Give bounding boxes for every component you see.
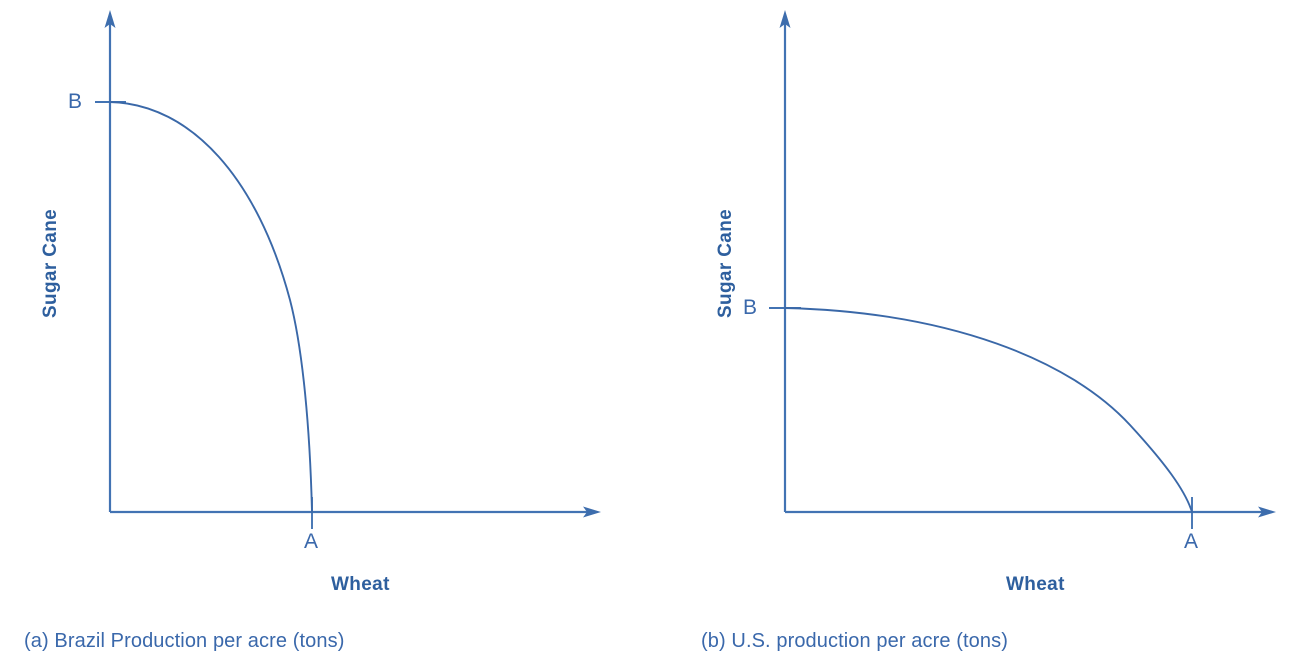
ppf-figure: B A Sugar Cane Wheat (a) Brazil Producti… [0, 0, 1300, 669]
brazil-point-a-label: A [304, 531, 318, 552]
brazil-y-axis-title: Sugar Cane [41, 209, 60, 318]
brazil-point-b-label: B [68, 91, 82, 112]
us-y-axis-title: Sugar Cane [716, 209, 735, 318]
brazil-caption: (a) Brazil Production per acre (tons) [24, 631, 345, 651]
brazil-ppf-curve [110, 102, 312, 512]
us-caption: (b) U.S. production per acre (tons) [701, 631, 1008, 651]
brazil-plot-area [0, 0, 650, 600]
us-point-b-label: B [743, 297, 757, 318]
panel-brazil: B A Sugar Cane Wheat (a) Brazil Producti… [0, 0, 650, 669]
us-point-a-label: A [1184, 531, 1198, 552]
panel-us: B A Sugar Cane Wheat (b) U.S. production… [650, 0, 1300, 669]
brazil-x-axis-title: Wheat [331, 575, 390, 594]
us-ppf-curve [785, 308, 1192, 512]
us-x-axis-title: Wheat [1006, 575, 1065, 594]
